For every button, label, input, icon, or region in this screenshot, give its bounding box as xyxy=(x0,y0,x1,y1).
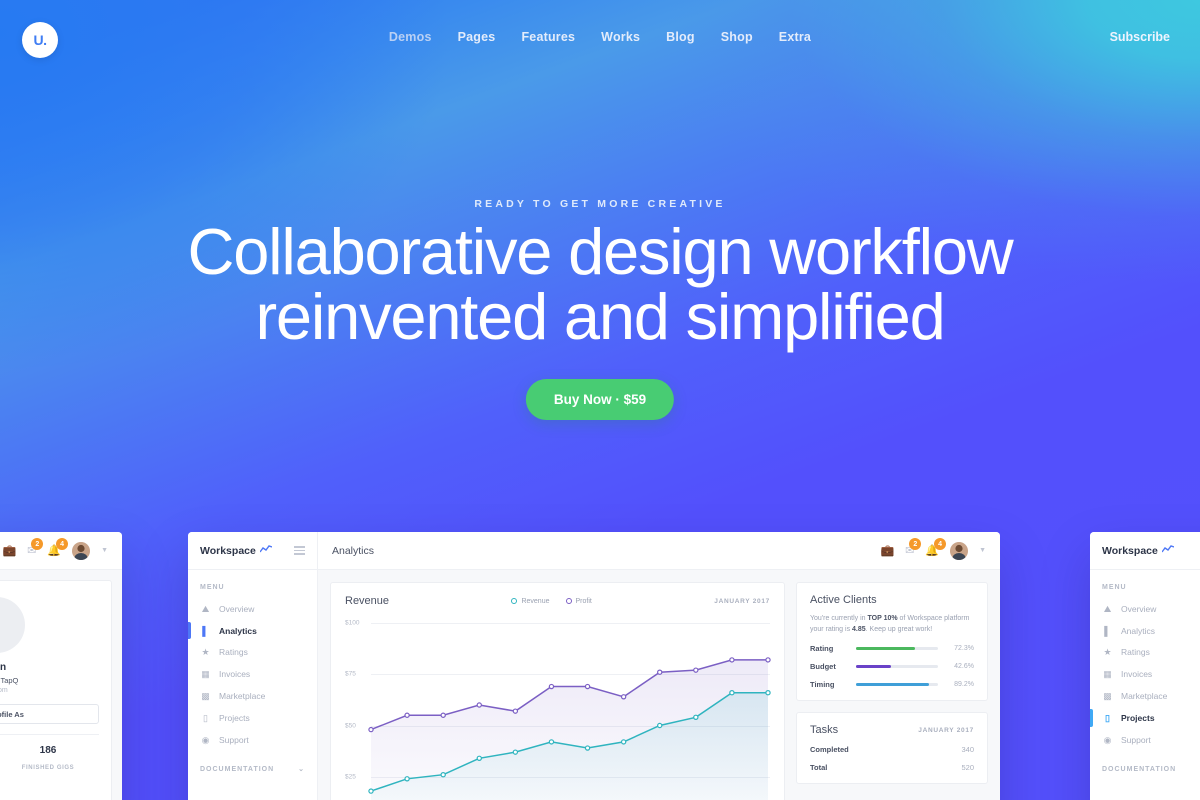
nav-link-shop[interactable]: Shop xyxy=(721,30,753,44)
sidebar-item-marketplace[interactable]: ▩Marketplace xyxy=(188,685,317,707)
receipt-icon: ▦ xyxy=(1102,669,1113,680)
tasks-panel: Tasks JANUARY 2017 Completed340Total520 xyxy=(796,712,988,784)
progress-label: Budget xyxy=(810,662,848,671)
chart-point xyxy=(694,668,698,672)
topbar-icons-left: 💼 ✉ 2 🔔 4 ▼ xyxy=(2,542,108,560)
profile-panel: ghn viously TapQ ngdom View Profile As 4… xyxy=(0,570,122,800)
chart-point xyxy=(658,670,662,674)
chart-point xyxy=(622,740,626,744)
progress-track xyxy=(856,683,938,686)
chart-point xyxy=(477,756,481,760)
topbar-center: Analytics 💼 ✉ 2 🔔 4 ▼ xyxy=(318,532,1000,570)
legend-dot xyxy=(566,598,572,604)
sparkline-icon xyxy=(260,545,272,556)
chart-point xyxy=(441,773,445,777)
chart-point xyxy=(477,703,481,707)
task-row: Completed340 xyxy=(810,745,974,754)
sidebar-item-ratings[interactable]: ★Ratings xyxy=(1090,641,1200,663)
profile-stat: 186 FINISHED GIGS xyxy=(0,745,99,774)
sidebar-item-projects[interactable]: ▯Projects xyxy=(1090,707,1200,729)
task-row: Total520 xyxy=(810,763,974,772)
nav-link-works[interactable]: Works xyxy=(601,30,640,44)
sidebar-right: Workspace MENU ⛰Overview▌Analytics★Ratin… xyxy=(1090,532,1200,800)
sidebar-section-documentation[interactable]: DOCUMENTATION ⌄ xyxy=(1090,751,1200,780)
chevron-down-icon[interactable]: ▼ xyxy=(979,547,986,554)
bar-chart-icon: ▌ xyxy=(1102,626,1113,636)
briefcase-icon[interactable]: 💼 xyxy=(2,544,16,557)
star-icon: ★ xyxy=(200,647,211,658)
chart-point xyxy=(549,684,553,688)
sidebar-items-right: ⛰Overview▌Analytics★Ratings▦Invoices▩Mar… xyxy=(1090,598,1200,751)
sidebar-section-documentation[interactable]: DOCUMENTATION ⌄ xyxy=(188,751,317,780)
sidebar-item-label: Projects xyxy=(1121,713,1155,723)
topbar-icons-center: 💼 ✉ 2 🔔 4 ▼ xyxy=(880,542,986,560)
chat-icon: ▯ xyxy=(1102,713,1113,724)
workspace-label: Workspace xyxy=(1102,545,1158,557)
sidebar-header: Workspace xyxy=(188,532,317,570)
sidebar-item-marketplace[interactable]: ▩Marketplace xyxy=(1090,685,1200,707)
revenue-header: Revenue RevenueProfit JANUARY 2017 xyxy=(345,595,770,607)
sidebar-item-label: Overview xyxy=(1121,604,1156,614)
profile-stats: 4 NTS 186 FINISHED GIGS xyxy=(0,734,99,774)
top-navigation: U. DemosPagesFeaturesWorksBlogShopExtra … xyxy=(0,0,1200,82)
sidebar-item-label: Ratings xyxy=(1121,647,1150,657)
dashboard-previews: 💼 ✉ 2 🔔 4 ▼ ghn viously TapQ ngdom View … xyxy=(0,0,1200,800)
sidebar-center: Workspace MENU ⛰Overview▌Analytics★Ratin… xyxy=(188,532,318,800)
chat-icon: ▯ xyxy=(200,713,211,724)
chart-svg xyxy=(345,617,772,800)
ac-text-d: 4.85 xyxy=(852,626,866,633)
dashboard-card-center[interactable]: Workspace MENU ⛰Overview▌Analytics★Ratin… xyxy=(188,532,1000,800)
chevron-down-icon[interactable]: ▼ xyxy=(101,547,108,554)
progress-row-budget: Budget42.6% xyxy=(810,662,974,671)
nav-link-blog[interactable]: Blog xyxy=(666,30,695,44)
notifications-icon[interactable]: 🔔 4 xyxy=(925,544,939,557)
messages-icon[interactable]: ✉ 2 xyxy=(905,544,914,557)
progress-row-rating: Rating72.3% xyxy=(810,644,974,653)
avatar[interactable] xyxy=(72,542,90,560)
sidebar-item-support[interactable]: ◉Support xyxy=(1090,729,1200,751)
progress-fill xyxy=(856,665,891,668)
chart-point xyxy=(513,750,517,754)
tasks-header: Tasks JANUARY 2017 xyxy=(810,724,974,736)
workspace-label: Workspace xyxy=(200,545,256,557)
chart-point xyxy=(730,658,734,662)
chart-point xyxy=(730,691,734,695)
chart-point xyxy=(622,695,626,699)
legend-dot xyxy=(511,598,517,604)
sidebar-item-analytics[interactable]: ▌Analytics xyxy=(1090,620,1200,641)
badge-notifications: 4 xyxy=(56,538,68,550)
profile-name: ghn xyxy=(0,662,99,673)
chart-point xyxy=(658,723,662,727)
chart-point xyxy=(513,709,517,713)
profile-location: ngdom xyxy=(0,687,99,694)
lifebuoy-icon: ◉ xyxy=(1102,735,1113,746)
profile-company: viously TapQ xyxy=(0,676,99,685)
nav-link-extra[interactable]: Extra xyxy=(779,30,811,44)
progress-label: Timing xyxy=(810,680,848,689)
sidebar-items-center: ⛰Overview▌Analytics★Ratings▦Invoices▩Mar… xyxy=(188,598,317,751)
documentation-label: DOCUMENTATION xyxy=(1102,766,1176,773)
sidebar-section-menu: MENU xyxy=(1090,570,1200,598)
sidebar-item-label: Analytics xyxy=(219,626,257,636)
lifebuoy-icon: ◉ xyxy=(200,735,211,746)
sidebar-header: Workspace xyxy=(1090,532,1200,570)
profile-card: ghn viously TapQ ngdom View Profile As 4… xyxy=(0,580,112,800)
sidebar-item-projects[interactable]: ▯Projects xyxy=(188,707,317,729)
sidebar-item-label: Marketplace xyxy=(219,691,265,701)
chart-point xyxy=(549,740,553,744)
task-value: 520 xyxy=(961,763,974,772)
topbar-left: 💼 ✉ 2 🔔 4 ▼ xyxy=(0,532,122,570)
workspace-brand[interactable]: Workspace xyxy=(1102,545,1174,557)
chart-point xyxy=(585,684,589,688)
chart-point xyxy=(585,746,589,750)
progress-fill xyxy=(856,683,929,686)
progress-value: 42.6% xyxy=(946,663,974,670)
sidebar-item-analytics[interactable]: ▌Analytics xyxy=(188,620,317,641)
nav-link-pages[interactable]: Pages xyxy=(458,30,496,44)
workspace-brand[interactable]: Workspace xyxy=(200,545,272,557)
ac-text-e: . Keep up great work! xyxy=(866,626,933,633)
profile-stat-value: 186 xyxy=(0,745,99,756)
sidebar-item-overview[interactable]: ⛰Overview xyxy=(188,598,317,620)
notifications-icon[interactable]: 🔔 4 xyxy=(47,544,61,557)
legend-label: Profit xyxy=(576,598,592,605)
active-clients-title: Active Clients xyxy=(810,594,974,606)
tasks-title: Tasks xyxy=(810,724,838,736)
task-label: Total xyxy=(810,763,827,772)
task-label: Completed xyxy=(810,745,849,754)
sidebar-item-label: Support xyxy=(1121,735,1151,745)
legend-item-revenue: Revenue xyxy=(511,598,549,605)
sidebar-item-label: Invoices xyxy=(219,669,250,679)
home-icon: ⛰ xyxy=(1102,604,1113,615)
nav-link-demos[interactable]: Demos xyxy=(389,30,432,44)
sidebar-item-label: Analytics xyxy=(1121,626,1155,636)
progress-value: 72.3% xyxy=(946,645,974,652)
store-icon: ▩ xyxy=(1102,691,1113,702)
hamburger-icon[interactable] xyxy=(294,546,305,555)
sidebar-item-label: Support xyxy=(219,735,249,745)
progress-row-timing: Timing89.2% xyxy=(810,680,974,689)
tasks-date: JANUARY 2017 xyxy=(918,727,974,734)
chart-point xyxy=(441,713,445,717)
sidebar-item-support[interactable]: ◉Support xyxy=(188,729,317,751)
tasks-rows: Completed340Total520 xyxy=(810,745,974,772)
sidebar-item-label: Overview xyxy=(219,604,254,614)
page-title: Analytics xyxy=(332,545,374,557)
view-profile-as-button[interactable]: View Profile As xyxy=(0,704,99,724)
store-icon: ▩ xyxy=(200,691,211,702)
revenue-title: Revenue xyxy=(345,595,389,607)
profile-stat-label: FINISHED GIGS xyxy=(22,765,74,771)
messages-icon[interactable]: ✉ 2 xyxy=(27,544,36,557)
subscribe-link[interactable]: Subscribe xyxy=(1110,30,1170,44)
active-clients-panel: Active Clients You're currently in TOP 1… xyxy=(796,582,988,701)
ac-text-a: You're currently in xyxy=(810,615,868,622)
dashboard-content: Revenue RevenueProfit JANUARY 2017 $100$… xyxy=(318,570,1000,800)
revenue-chart: $100$75$50$25 xyxy=(345,617,770,800)
legend-item-profit: Profit xyxy=(566,598,592,605)
chart-point xyxy=(766,691,770,695)
progress-fill xyxy=(856,647,915,650)
chart-point xyxy=(405,777,409,781)
revenue-date: JANUARY 2017 xyxy=(714,598,770,605)
receipt-icon: ▦ xyxy=(200,669,211,680)
sidebar-item-label: Projects xyxy=(219,713,250,723)
dashboard-card-right[interactable]: Workspace MENU ⛰Overview▌Analytics★Ratin… xyxy=(1090,532,1200,800)
chart-point xyxy=(766,658,770,662)
bar-chart-icon: ▌ xyxy=(200,626,211,636)
sidebar-item-ratings[interactable]: ★Ratings xyxy=(188,641,317,663)
sidebar-item-label: Invoices xyxy=(1121,669,1152,679)
badge-messages: 2 xyxy=(909,538,921,550)
nav-links: DemosPagesFeaturesWorksBlogShopExtra xyxy=(0,30,1200,44)
sidebar-item-invoices[interactable]: ▦Invoices xyxy=(1090,663,1200,685)
sparkline-icon xyxy=(1162,545,1174,556)
sidebar-item-label: Ratings xyxy=(219,647,248,657)
legend-label: Revenue xyxy=(521,598,549,605)
sidebar-item-invoices[interactable]: ▦Invoices xyxy=(188,663,317,685)
chart-point xyxy=(405,713,409,717)
documentation-label: DOCUMENTATION xyxy=(200,766,274,773)
sidebar-item-overview[interactable]: ⛰Overview xyxy=(1090,598,1200,620)
progress-label: Rating xyxy=(810,644,848,653)
chart-point xyxy=(694,715,698,719)
badge-notifications: 4 xyxy=(934,538,946,550)
chevron-down-icon[interactable]: ⌄ xyxy=(298,765,305,773)
progress-track xyxy=(856,665,938,668)
ac-text-b: TOP 10% xyxy=(868,615,898,622)
star-icon: ★ xyxy=(1102,647,1113,658)
task-value: 340 xyxy=(961,745,974,754)
dashboard-card-left[interactable]: 💼 ✉ 2 🔔 4 ▼ ghn viously TapQ ngdom View … xyxy=(0,532,122,800)
active-clients-description: You're currently in TOP 10% of Workspace… xyxy=(810,613,974,635)
sidebar-item-label: Marketplace xyxy=(1121,691,1167,701)
progress-track xyxy=(856,647,938,650)
sidebar-section-menu: MENU xyxy=(188,570,317,598)
progress-value: 89.2% xyxy=(946,681,974,688)
chart-point xyxy=(369,789,373,793)
home-icon: ⛰ xyxy=(200,604,211,615)
revenue-legend: RevenueProfit xyxy=(511,598,591,605)
badge-messages: 2 xyxy=(31,538,43,550)
side-panels: Active Clients You're currently in TOP 1… xyxy=(796,582,988,800)
active-clients-bars: Rating72.3%Budget42.6%Timing89.2% xyxy=(810,644,974,689)
avatar[interactable] xyxy=(950,542,968,560)
chart-point xyxy=(369,728,373,732)
profile-avatar xyxy=(0,597,25,653)
revenue-panel: Revenue RevenueProfit JANUARY 2017 $100$… xyxy=(330,582,785,800)
nav-link-features[interactable]: Features xyxy=(521,30,575,44)
briefcase-icon[interactable]: 💼 xyxy=(880,544,894,557)
